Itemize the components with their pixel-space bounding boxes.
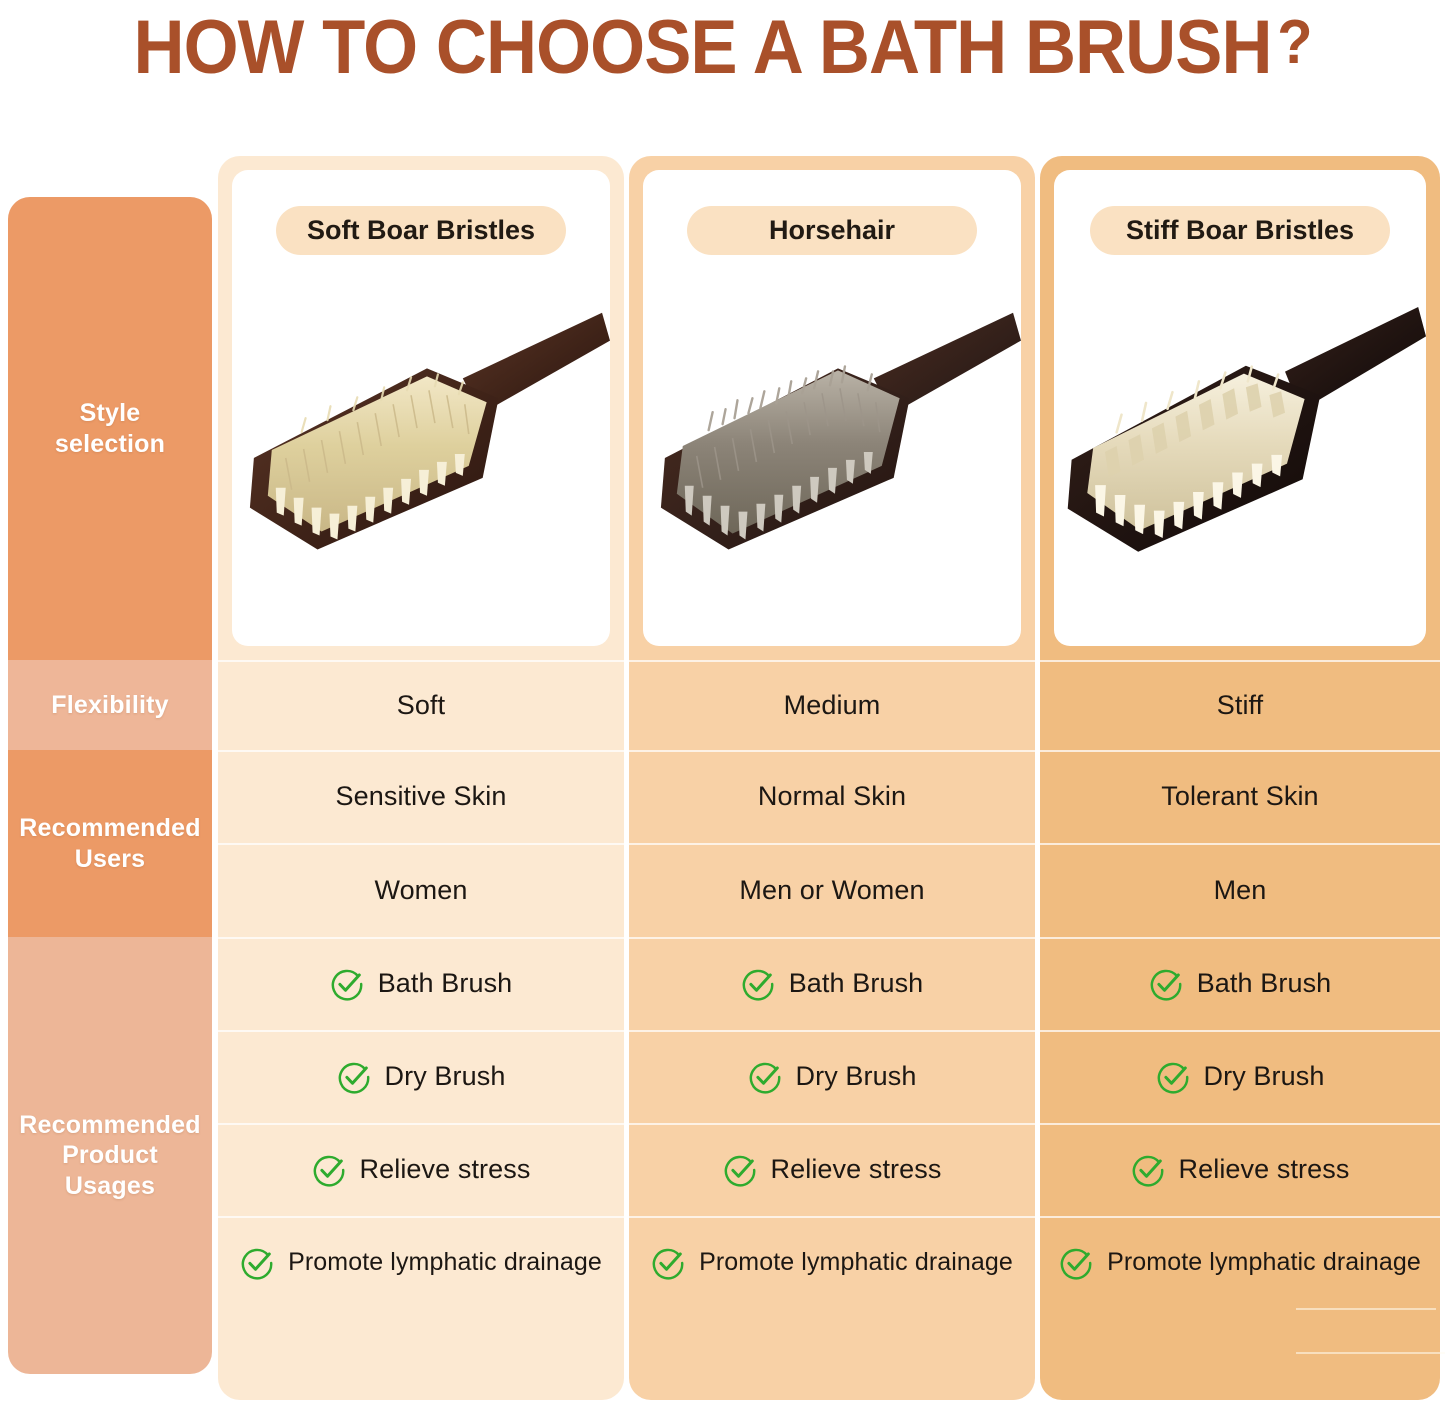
column-header-3: Stiff Boar Bristles bbox=[1090, 206, 1390, 255]
cell-usage-dry-brush-1: Dry Brush bbox=[218, 1030, 624, 1123]
circle-check-icon bbox=[1059, 1246, 1093, 1280]
sidebar-label-style-line2: selection bbox=[55, 429, 165, 460]
usage-label-2-2: Dry Brush bbox=[796, 1061, 917, 1092]
circle-check-icon bbox=[337, 1060, 371, 1094]
cell-usage-relieve-stress-3: Relieve stress bbox=[1040, 1123, 1440, 1216]
cell-gender-2: Men or Women bbox=[629, 843, 1035, 937]
column-header-1: Soft Boar Bristles bbox=[276, 206, 566, 255]
page-title: HOW TO CHOOSE A BATH BRUSH? bbox=[51, 4, 1395, 91]
sidebar-label-style-line1: Style bbox=[55, 398, 165, 429]
sidebar-label-usages-line1: Recommended bbox=[19, 1110, 200, 1141]
usage-item-2-4: Promote lymphatic drainage bbox=[651, 1246, 1013, 1280]
cell-usage-lymphatic-1: Promote lymphatic drainage bbox=[218, 1216, 624, 1309]
question-mark: ? bbox=[1277, 8, 1311, 77]
sidebar-label-usages-line3: Usages bbox=[19, 1171, 200, 1202]
cell-flexibility-1: Soft bbox=[218, 660, 624, 750]
cell-usage-dry-brush-3: Dry Brush bbox=[1040, 1030, 1440, 1123]
usage-label-3-4: Promote lymphatic drainage bbox=[1107, 1248, 1421, 1277]
circle-check-icon bbox=[741, 967, 775, 1001]
scan-artifact-line-2 bbox=[1296, 1352, 1445, 1354]
sidebar-label-users-line2: Users bbox=[19, 844, 200, 875]
usage-item-1-1: Bath Brush bbox=[330, 967, 513, 1001]
circle-check-icon bbox=[651, 1246, 685, 1280]
usage-label-2-4: Promote lymphatic drainage bbox=[699, 1248, 1013, 1277]
cell-usage-relieve-stress-2: Relieve stress bbox=[629, 1123, 1035, 1216]
cell-usage-bath-brush-2: Bath Brush bbox=[629, 937, 1035, 1030]
product-photo-card-3: Stiff Boar Bristles bbox=[1054, 170, 1426, 646]
brush-image-horsehair bbox=[643, 282, 1021, 612]
circle-check-icon bbox=[240, 1246, 274, 1280]
usage-item-1-2: Dry Brush bbox=[337, 1060, 506, 1094]
usage-label-3-2: Dry Brush bbox=[1204, 1061, 1325, 1092]
usage-label-1-4: Promote lymphatic drainage bbox=[288, 1248, 602, 1277]
circle-check-icon bbox=[1131, 1153, 1165, 1187]
scan-artifact-line-1 bbox=[1296, 1308, 1436, 1310]
sidebar-label-usages-line2: Product bbox=[19, 1140, 200, 1171]
row-label-sidebar: Style selection Flexibility Recommended … bbox=[8, 197, 212, 1374]
cell-usage-bath-brush-3: Bath Brush bbox=[1040, 937, 1440, 1030]
cell-gender-3: Men bbox=[1040, 843, 1440, 937]
usage-label-2-1: Bath Brush bbox=[789, 968, 924, 999]
cell-flexibility-3: Stiff bbox=[1040, 660, 1440, 750]
circle-check-icon bbox=[1149, 967, 1183, 1001]
usage-item-2-2: Dry Brush bbox=[748, 1060, 917, 1094]
usage-item-3-3: Relieve stress bbox=[1131, 1153, 1350, 1187]
usage-item-3-2: Dry Brush bbox=[1156, 1060, 1325, 1094]
sidebar-label-flexibility: Flexibility bbox=[51, 690, 169, 721]
usage-item-3-4: Promote lymphatic drainage bbox=[1059, 1246, 1421, 1280]
usage-item-1-3: Relieve stress bbox=[312, 1153, 531, 1187]
usage-label-3-3: Relieve stress bbox=[1179, 1154, 1350, 1185]
page-title-text: HOW TO CHOOSE A BATH BRUSH bbox=[134, 5, 1272, 90]
usage-item-2-3: Relieve stress bbox=[723, 1153, 942, 1187]
cell-usage-dry-brush-2: Dry Brush bbox=[629, 1030, 1035, 1123]
cell-flexibility-2: Medium bbox=[629, 660, 1035, 750]
usage-item-2-1: Bath Brush bbox=[741, 967, 924, 1001]
cell-skin-2: Normal Skin bbox=[629, 750, 1035, 843]
cell-skin-3: Tolerant Skin bbox=[1040, 750, 1440, 843]
cell-usage-lymphatic-3: Promote lymphatic drainage bbox=[1040, 1216, 1440, 1309]
cell-usage-lymphatic-2: Promote lymphatic drainage bbox=[629, 1216, 1035, 1309]
usage-label-1-1: Bath Brush bbox=[378, 968, 513, 999]
usage-label-1-2: Dry Brush bbox=[385, 1061, 506, 1092]
cell-usage-relieve-stress-1: Relieve stress bbox=[218, 1123, 624, 1216]
cell-skin-1: Sensitive Skin bbox=[218, 750, 624, 843]
circle-check-icon bbox=[312, 1153, 346, 1187]
usage-label-1-3: Relieve stress bbox=[360, 1154, 531, 1185]
sidebar-row-recommended-users: Recommended Users bbox=[8, 750, 212, 937]
cell-gender-1: Women bbox=[218, 843, 624, 937]
circle-check-icon bbox=[1156, 1060, 1190, 1094]
sidebar-row-recommended-product-usages: Recommended Product Usages bbox=[8, 937, 212, 1374]
circle-check-icon bbox=[723, 1153, 757, 1187]
usage-label-2-3: Relieve stress bbox=[771, 1154, 942, 1185]
product-photo-card-2: Horsehair bbox=[643, 170, 1021, 646]
sidebar-row-style-selection: Style selection bbox=[8, 197, 212, 660]
product-photo-card-1: Soft Boar Bristles bbox=[232, 170, 610, 646]
sidebar-label-users-line1: Recommended bbox=[19, 813, 200, 844]
brush-image-stiff-boar bbox=[1054, 282, 1426, 612]
usage-item-1-4: Promote lymphatic drainage bbox=[240, 1246, 602, 1280]
column-header-2: Horsehair bbox=[687, 206, 977, 255]
brush-image-soft-boar bbox=[232, 282, 610, 612]
sidebar-row-flexibility: Flexibility bbox=[8, 660, 212, 750]
cell-usage-bath-brush-1: Bath Brush bbox=[218, 937, 624, 1030]
circle-check-icon bbox=[748, 1060, 782, 1094]
comparison-table: Soft Boar Bristles bbox=[218, 156, 1440, 1400]
circle-check-icon bbox=[330, 967, 364, 1001]
usage-label-3-1: Bath Brush bbox=[1197, 968, 1332, 999]
usage-item-3-1: Bath Brush bbox=[1149, 967, 1332, 1001]
